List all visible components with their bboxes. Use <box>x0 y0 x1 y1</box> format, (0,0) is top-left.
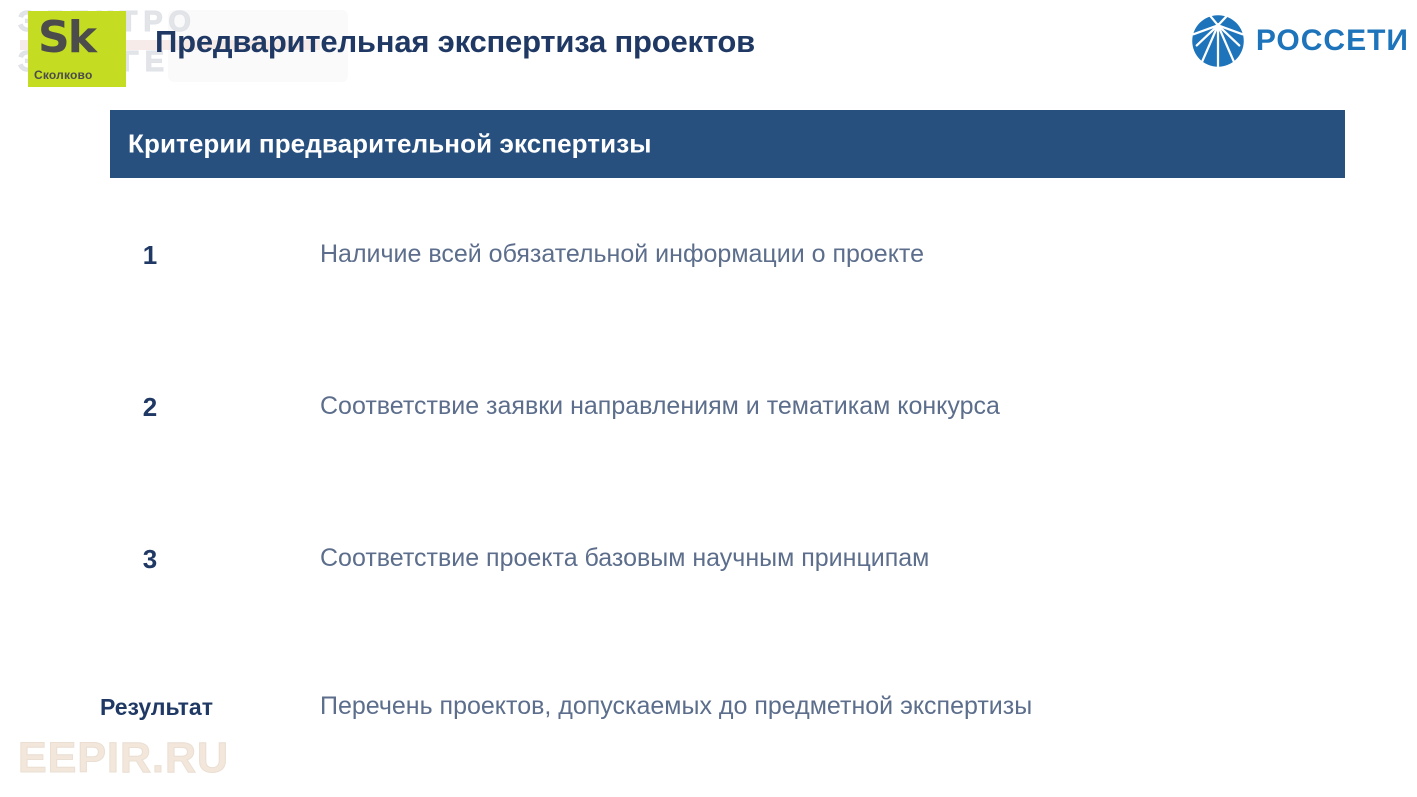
criteria-text: Соответствие проекта базовым научным при… <box>320 542 929 574</box>
result-row: Результат Перечень проектов, допускаемых… <box>0 690 1417 734</box>
skolkovo-mark-text: Sk <box>38 15 95 61</box>
criteria-number: 2 <box>120 392 180 422</box>
list-item: 1 Наличие всей обязательной информации о… <box>0 178 1417 330</box>
criteria-text: Соответствие заявки направлениям и темат… <box>320 390 1000 422</box>
result-text: Перечень проектов, допускаемых до предме… <box>320 690 1032 722</box>
skolkovo-logo: Sk Сколково <box>28 11 126 87</box>
rosseti-logo: РОССЕТИ <box>1190 10 1409 72</box>
result-label: Результат <box>100 692 213 722</box>
criteria-text: Наличие всей обязательной информации о п… <box>320 238 924 270</box>
rosseti-wordmark: РОССЕТИ <box>1256 24 1409 58</box>
section-header-title: Критерии предварительной экспертизы <box>128 129 652 160</box>
rosseti-sunburst-icon <box>1190 13 1246 69</box>
list-item: 2 Соответствие заявки направлениям и тем… <box>0 330 1417 482</box>
criteria-number: 3 <box>120 544 180 574</box>
page-title: Предварительная экспертиза проектов <box>155 24 755 60</box>
presentation-slide: ЭЛЕКТРО ЭНЕРГЕ Sk Сколково Предварительн… <box>0 0 1417 797</box>
criteria-number: 1 <box>120 240 180 270</box>
list-item: 3 Соответствие проекта базовым научным п… <box>0 482 1417 634</box>
site-watermark: EEPIR.RU <box>18 734 229 783</box>
skolkovo-wordmark: Сколково <box>34 68 93 82</box>
section-header-bar: Критерии предварительной экспертизы <box>110 110 1345 178</box>
criteria-list: 1 Наличие всей обязательной информации о… <box>0 178 1417 634</box>
